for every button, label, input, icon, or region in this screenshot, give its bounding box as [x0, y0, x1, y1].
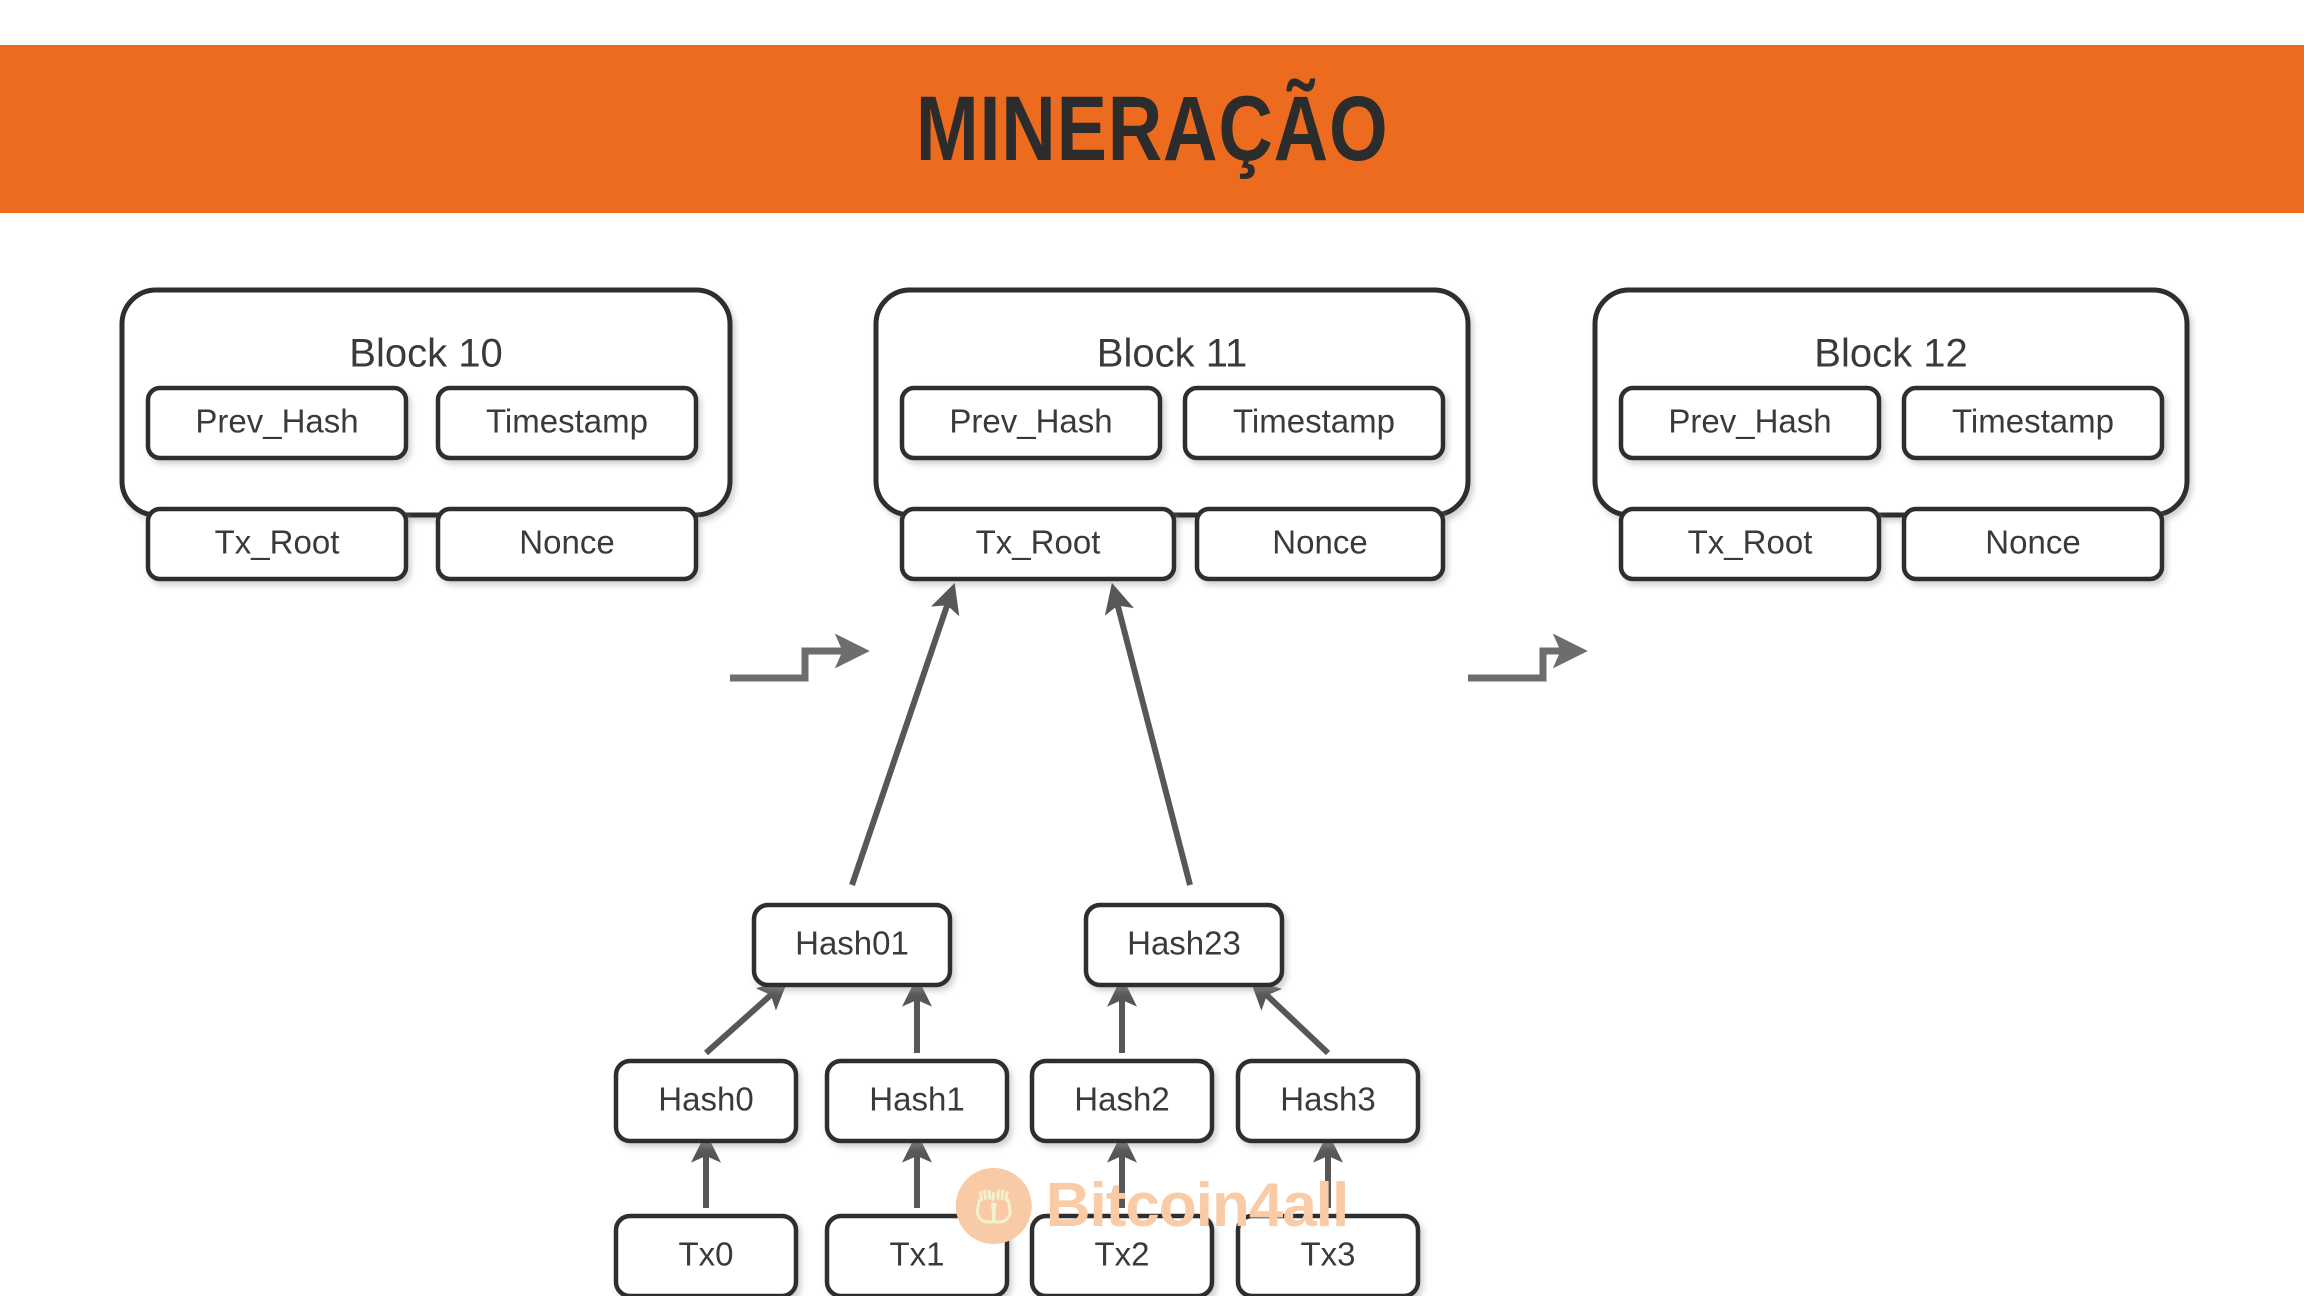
arrow-hash01-to-tx-root	[852, 591, 952, 885]
block-12-field-prev-hash-label: Prev_Hash	[1668, 403, 1831, 440]
block-11-title: Block 11	[1097, 332, 1247, 376]
logo-wordmark: Bitcoin4all	[1046, 1175, 1349, 1237]
merkle-leaf-hash1[interactable]: Hash1	[827, 1061, 1007, 1141]
block-connector-10-to-11	[730, 651, 860, 678]
block-card-10[interactable]: Block 10 Prev_Hash Timestamp Tx_Root Non…	[122, 290, 730, 579]
block-connector-11-to-12	[1468, 651, 1578, 678]
merkle-leaf-hash0-label: Hash0	[658, 1081, 753, 1118]
block-11-field-tx-root-label: Tx_Root	[976, 524, 1101, 561]
praying-hands-icon	[956, 1168, 1032, 1244]
arrow-hash0-to-hash01	[706, 985, 782, 1053]
merkle-leaf-hash1-label: Hash1	[869, 1081, 964, 1118]
merkle-leaf-hash2[interactable]: Hash2	[1032, 1061, 1212, 1141]
merkle-leaf-hash0[interactable]: Hash0	[616, 1061, 796, 1141]
header-banner: MINERAÇÃO	[0, 45, 2304, 213]
transaction-tx0[interactable]: Tx0	[616, 1216, 796, 1296]
block-12-field-tx-root-label: Tx_Root	[1688, 524, 1813, 561]
block-11-field-timestamp-label: Timestamp	[1233, 403, 1395, 440]
transaction-tx0-label: Tx0	[678, 1236, 733, 1273]
arrow-hash3-to-hash23	[1256, 985, 1328, 1053]
block-10-field-nonce-label: Nonce	[519, 524, 614, 561]
block-10-field-timestamp-label: Timestamp	[486, 403, 648, 440]
merkle-leaf-hash3-label: Hash3	[1280, 1081, 1375, 1118]
footer-logo: Bitcoin4all	[956, 1168, 1349, 1244]
diagram-canvas: Block 10 Prev_Hash Timestamp Tx_Root Non…	[0, 213, 2304, 1296]
block-12-field-nonce-label: Nonce	[1985, 524, 2080, 561]
block-12-field-timestamp-label: Timestamp	[1952, 403, 2114, 440]
merkle-leaf-hash2-label: Hash2	[1074, 1081, 1169, 1118]
block-card-11[interactable]: Block 11 Prev_Hash Timestamp Tx_Root Non…	[876, 290, 1468, 579]
block-card-12[interactable]: Block 12 Prev_Hash Timestamp Tx_Root Non…	[1595, 290, 2187, 579]
merkle-node-hash23-label: Hash23	[1127, 925, 1241, 962]
transaction-tx1-label: Tx1	[889, 1236, 944, 1273]
block-10-title: Block 10	[349, 332, 502, 376]
arrow-hash23-to-tx-root	[1114, 591, 1190, 885]
block-10-field-tx-root-label: Tx_Root	[215, 524, 340, 561]
merkle-node-hash23[interactable]: Hash23	[1086, 905, 1282, 985]
blockchain-diagram: Block 10 Prev_Hash Timestamp Tx_Root Non…	[0, 213, 2304, 1296]
block-11-field-nonce-label: Nonce	[1272, 524, 1367, 561]
block-10-field-prev-hash-label: Prev_Hash	[195, 403, 358, 440]
block-12-title: Block 12	[1814, 332, 1967, 376]
block-11-field-prev-hash-label: Prev_Hash	[949, 403, 1112, 440]
merkle-node-hash01[interactable]: Hash01	[754, 905, 950, 985]
hands-glyph	[966, 1178, 1022, 1234]
merkle-leaf-hash3[interactable]: Hash3	[1238, 1061, 1418, 1141]
page-title: MINERAÇÃO	[916, 83, 1389, 175]
merkle-node-hash01-label: Hash01	[795, 925, 909, 962]
